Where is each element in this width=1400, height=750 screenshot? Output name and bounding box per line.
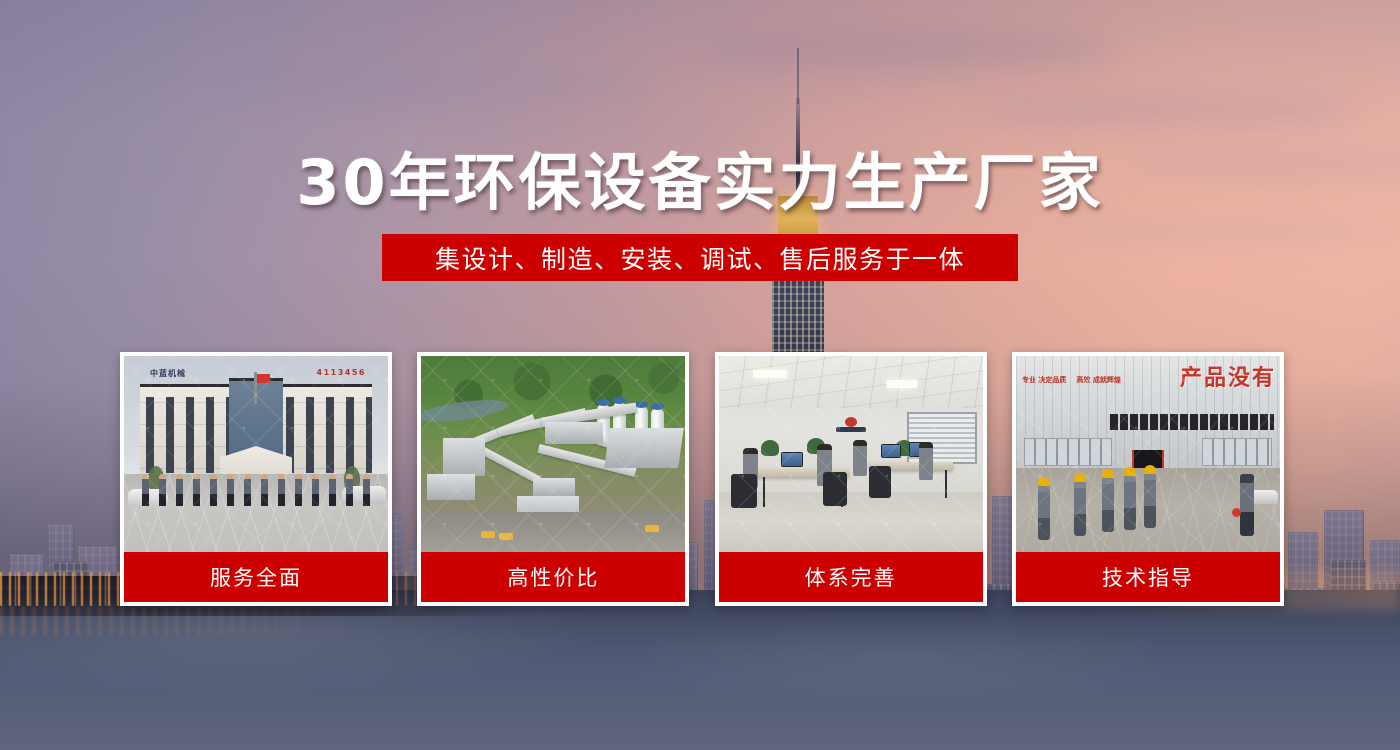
card-caption: 高性价比 [421,552,685,602]
subtitle-banner: 集设计、制造、安装、调试、售后服务于一体 [382,234,1018,281]
feature-card-row: 中蓝机械 4113456 服务全面 [120,352,1284,606]
factory-slogan-left: 专业 决定品质 [1022,376,1066,385]
feature-card[interactable]: 高性价比 [417,352,689,606]
factory-slogan: 专业 决定品质 高效 成就辉煌 [1022,376,1138,385]
card-caption: 体系完善 [719,552,983,602]
feature-card[interactable]: 体系完善 [715,352,987,606]
building-sign-text: 中蓝机械 [150,368,186,379]
promo-banner: 30年环保设备实力生产厂家 集设计、制造、安装、调试、售后服务于一体 中蓝机械 … [0,0,1400,750]
factory-banner-text: 产品没有 [1180,360,1276,392]
river-water [0,590,1400,750]
subtitle-text: 集设计、制造、安装、调试、售后服务于一体 [435,240,965,276]
building-phone-text: 4113456 [317,368,366,377]
feature-card[interactable]: 中蓝机械 4113456 服务全面 [120,352,392,606]
card-photo-office [719,356,983,552]
wall-logo-icon [836,408,866,434]
card-photo-industrial-plant [421,356,685,552]
card-caption: 服务全面 [124,552,388,602]
card-caption: 技术指导 [1016,552,1280,602]
headline-title: 30年环保设备实力生产厂家 [0,132,1400,222]
factory-slogan-right: 高效 成就辉煌 [1076,376,1120,385]
card-photo-workers: 产品没有 专业 决定品质 高效 成就辉煌 [1016,356,1280,552]
feature-card[interactable]: 产品没有 专业 决定品质 高效 成就辉煌 技术指导 [1012,352,1284,606]
card-photo-headquarters: 中蓝机械 4113456 [124,356,388,552]
